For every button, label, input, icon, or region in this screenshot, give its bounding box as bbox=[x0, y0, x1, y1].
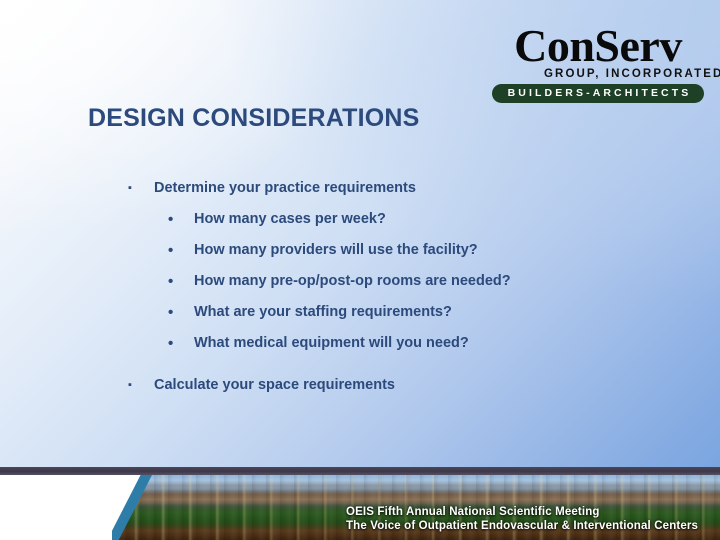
list-item: • How many cases per week? bbox=[128, 208, 688, 231]
round-bullet-icon: • bbox=[168, 332, 194, 355]
list-item: • What medical equipment will you need? bbox=[128, 332, 688, 355]
list-item: • What are your staffing requirements? bbox=[128, 301, 688, 324]
conserv-logo: ConServ GROUP, INCORPORATED BUILDERS-ARC… bbox=[492, 22, 704, 103]
list-item: • How many providers will use the facili… bbox=[128, 239, 688, 262]
list-item: ▪ Determine your practice requirements bbox=[128, 176, 688, 200]
square-bullet-icon: ▪ bbox=[128, 176, 154, 200]
list-item: • How many pre-op/post-op rooms are need… bbox=[128, 270, 688, 293]
conserv-tagline-pill: BUILDERS-ARCHITECTS bbox=[492, 84, 704, 103]
round-bullet-icon: • bbox=[168, 270, 194, 293]
list-item-label: What medical equipment will you need? bbox=[194, 332, 469, 355]
list-item-label: How many cases per week? bbox=[194, 208, 386, 231]
footer-divider-bar bbox=[0, 467, 720, 475]
conserv-wordmark: ConServ bbox=[492, 22, 704, 70]
list-item-label: Calculate your space requirements bbox=[154, 373, 395, 397]
slide-footer: OEIS OUTPATIENT ENDOVASCULAR AND INTERVE… bbox=[0, 475, 720, 540]
list-item-label: How many providers will use the facility… bbox=[194, 239, 478, 262]
footer-tagline-line1: OEIS Fifth Annual National Scientific Me… bbox=[346, 505, 698, 519]
page-title: DESIGN CONSIDERATIONS bbox=[88, 104, 420, 133]
list-item-label: Determine your practice requirements bbox=[154, 176, 416, 200]
presentation-slide: ConServ GROUP, INCORPORATED BUILDERS-ARC… bbox=[0, 0, 720, 540]
square-bullet-icon: ▪ bbox=[128, 373, 154, 397]
round-bullet-icon: • bbox=[168, 239, 194, 262]
list-item-label: How many pre-op/post-op rooms are needed… bbox=[194, 270, 511, 293]
footer-tagline-line2: The Voice of Outpatient Endovascular & I… bbox=[346, 519, 698, 533]
round-bullet-icon: • bbox=[168, 208, 194, 231]
round-bullet-icon: • bbox=[168, 301, 194, 324]
list-item-label: What are your staffing requirements? bbox=[194, 301, 452, 324]
footer-left-panel bbox=[0, 475, 112, 540]
list-item: ▪ Calculate your space requirements bbox=[128, 373, 688, 397]
footer-tagline: OEIS Fifth Annual National Scientific Me… bbox=[346, 505, 698, 533]
bullet-list: ▪ Determine your practice requirements •… bbox=[128, 176, 688, 405]
